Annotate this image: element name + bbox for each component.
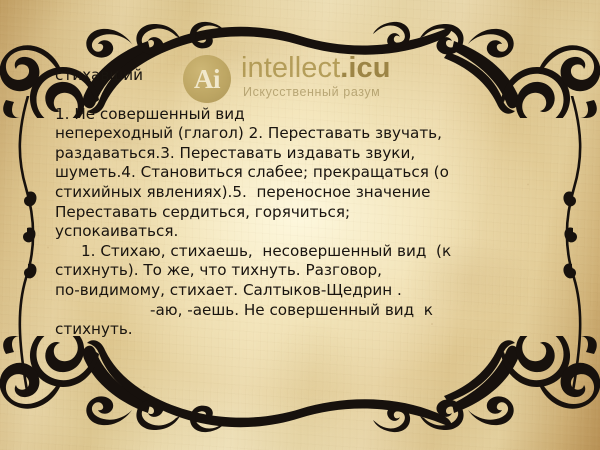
ornament-right-border [558, 96, 592, 396]
entry-headword: стихавший [55, 66, 525, 86]
entry-sense-block-1: 1. Не совершенный вид непереходный (глаг… [55, 105, 525, 242]
dictionary-entry: стихавший 1. Не совершенный вид неперехо… [55, 66, 525, 340]
parchment-page: Ai intellect.icu Искусственный разум сти… [0, 0, 600, 450]
ornament-bottom-flourish [0, 336, 600, 448]
entry-sense-block-3: -аю, -аешь. Не совершенный вид к стихнут… [55, 301, 525, 340]
ornament-left-border [8, 96, 42, 396]
entry-sense-block-2: 1. Стихаю, стихаешь, несовершенный вид (… [55, 242, 525, 301]
